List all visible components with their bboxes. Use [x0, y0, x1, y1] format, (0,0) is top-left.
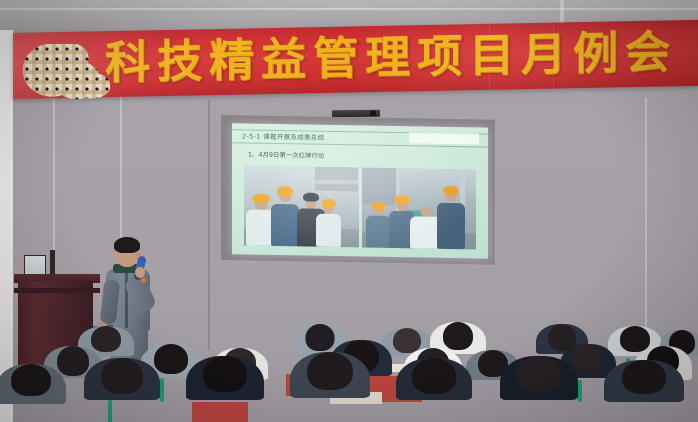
- lanyard: [108, 400, 112, 422]
- slide-worker: [316, 194, 341, 247]
- slide-worker: [271, 182, 298, 246]
- audience-member: [0, 364, 66, 422]
- slide-photo-right: [362, 167, 477, 249]
- banner-title: 科技精益管理项目月例会: [105, 27, 677, 88]
- slide-logo-block: [409, 132, 479, 144]
- redaction-mask: [22, 44, 110, 102]
- ceiling-seam: [0, 8, 698, 10]
- audience-row-front: [0, 354, 698, 422]
- slide-photo-left: [244, 165, 359, 247]
- audience-member: [84, 358, 160, 422]
- red-banner: 科技精益管理项目月例会: [13, 20, 698, 99]
- podium-lip: [14, 288, 100, 293]
- audience-member: [604, 360, 684, 422]
- audience-member: [290, 352, 370, 422]
- audience-member: [186, 356, 264, 422]
- audience-member: [500, 356, 578, 422]
- presenter-hair: [114, 237, 140, 253]
- presenter-hand-holding-mic: [135, 267, 145, 278]
- meeting-photo: 科技精益管理项目月例会 2-5-1 课题开展及成果总结 1、4月9日第一次红牌行…: [0, 0, 698, 422]
- slide-bullet-text: 1、4月9日第一次红牌行动: [248, 150, 324, 160]
- slide-photo-group: [244, 165, 476, 249]
- projection-screen: 2-5-1 课题开展及成果总结 1、4月9日第一次红牌行动: [221, 115, 495, 265]
- slide-worker: [366, 196, 391, 248]
- slide-header-title: 2-5-1 课题开展及成果总结: [242, 131, 324, 142]
- audience: [0, 302, 698, 422]
- microphone-indicator: [141, 278, 146, 283]
- slide-worker: [437, 182, 464, 250]
- slide-header: 2-5-1 课题开展及成果总结: [232, 129, 488, 147]
- audience-member: [396, 358, 472, 422]
- projected-slide: 2-5-1 课题开展及成果总结 1、4月9日第一次红牌行动: [232, 123, 488, 258]
- wall-seam-far-left: [53, 96, 55, 276]
